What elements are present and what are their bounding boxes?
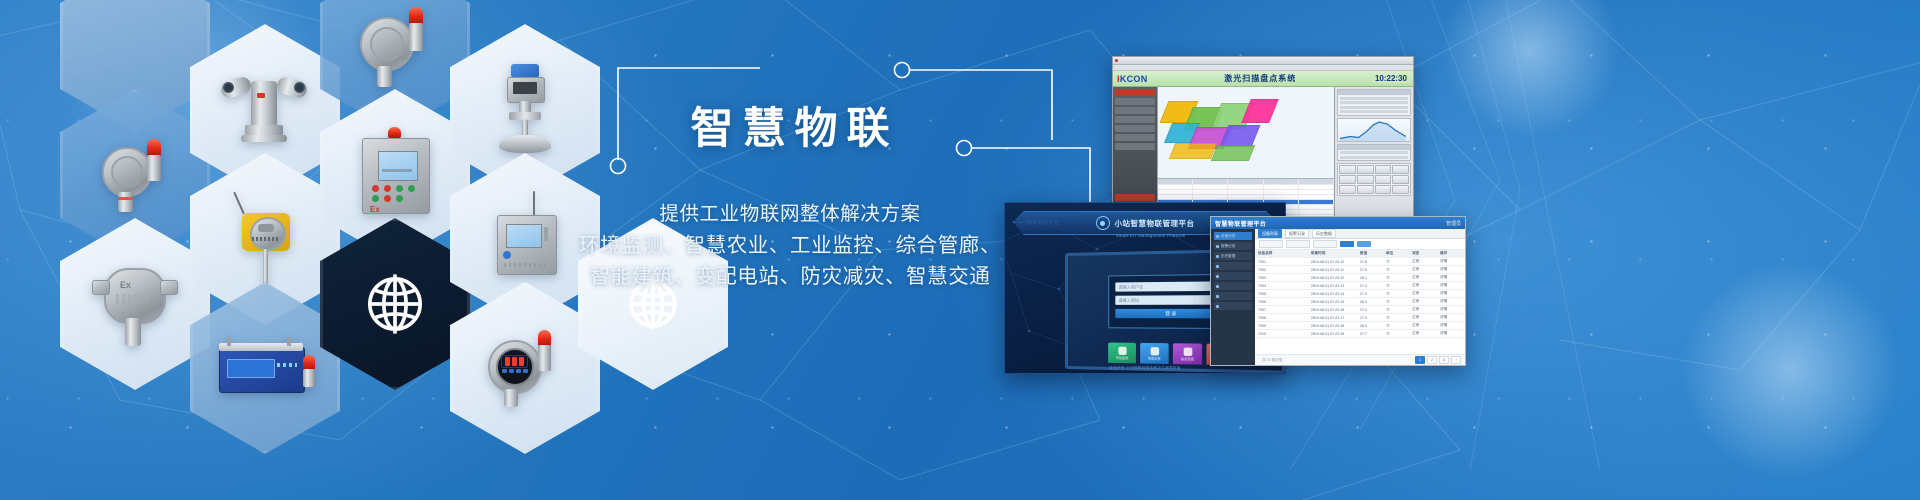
pager-note: 共 10 条记录 — [1259, 358, 1282, 363]
app-header: IKCON 激光扫描盘点系统 10:22:30 — [1113, 71, 1413, 87]
cell-action[interactable]: 详情 — [1437, 291, 1465, 296]
filter-input-2[interactable] — [1286, 240, 1310, 248]
tab-history-data[interactable]: 历史数据 — [1312, 229, 1336, 238]
column-header: 设备名称 — [1255, 251, 1308, 256]
leaf-icon — [1118, 346, 1126, 354]
cell-time: 2019-08-01 07:22:10 — [1308, 260, 1357, 264]
param-panel — [1337, 144, 1411, 162]
grid-button[interactable] — [1339, 165, 1356, 174]
cell-value: 27.5 — [1357, 316, 1383, 320]
cell-value: 28.3 — [1357, 300, 1383, 304]
button-grid[interactable] — [1337, 163, 1411, 196]
cell-value: 28.1 — [1357, 276, 1383, 280]
cell-time: 2019-08-01 07:22:14 — [1308, 292, 1357, 296]
cell-unit: ℃ — [1383, 260, 1409, 264]
cell-status: 正常 — [1409, 291, 1437, 296]
app-body — [1113, 87, 1413, 219]
table-window-header: 智慧物联管理平台 管理员 — [1211, 217, 1465, 229]
grid-button[interactable] — [1392, 175, 1409, 184]
table-window-brand: 智慧物联管理平台 — [1215, 219, 1266, 228]
table-row[interactable]: 7002 2019-08-01 07:22:11 27.6 ℃ 正常 详情 — [1255, 266, 1465, 274]
cell-status: 正常 — [1409, 283, 1437, 288]
ikcon-logo: IKCON — [1117, 74, 1148, 84]
glow-spot-right — [1680, 260, 1900, 480]
filter-bar[interactable] — [1255, 239, 1465, 250]
pager-page-2[interactable]: 2 — [1427, 356, 1437, 364]
globe-badge-icon — [1096, 216, 1110, 230]
cell-status: 正常 — [1409, 331, 1437, 336]
cell-device: 7003 — [1255, 276, 1308, 280]
cell-time: 2019-08-01 07:22:19 — [1308, 332, 1357, 336]
cell-action[interactable]: 详情 — [1437, 283, 1465, 288]
sidebar-item-5[interactable] — [1115, 134, 1155, 141]
cell-time: 2019-08-01 07:22:11 — [1308, 268, 1357, 272]
window-close-icon[interactable] — [1115, 59, 1118, 62]
grid-button[interactable] — [1339, 175, 1356, 184]
monitor-sidebar[interactable] — [1113, 87, 1157, 219]
sidebar-item-3[interactable] — [1115, 116, 1155, 123]
dashboard-footer: 版权所有 工业物联网整体解决方案提供商 — [1005, 366, 1285, 371]
table-row[interactable]: 7003 2019-08-01 07:22:12 28.1 ℃ 正常 详情 — [1255, 274, 1465, 282]
subtitle-lead: 提供工业物联网整体解决方案 — [575, 199, 1005, 230]
cell-time: 2019-08-01 07:22:12 — [1308, 276, 1357, 280]
laser-scan-system-window[interactable]: IKCON 激光扫描盘点系统 10:22:30 — [1112, 56, 1414, 220]
table-window-main: 设备列表 报警记录 历史数据 设备名称 采集时间 数值 单位 — [1255, 229, 1465, 365]
cell-time: 2019-08-01 07:22:16 — [1308, 308, 1357, 312]
cell-unit: ℃ — [1383, 276, 1409, 280]
sidebar-item-5[interactable] — [1214, 272, 1252, 280]
table-window-body: 设备列表 报警记录 历史数据 设备列表 报警记录 历史数据 — [1211, 229, 1465, 365]
tile-label: 智慧水务 — [1148, 356, 1161, 360]
clock-icon — [1216, 255, 1219, 258]
column-header: 数值 — [1357, 251, 1383, 256]
sidebar-label: 报警记录 — [1221, 244, 1235, 249]
folder-icon — [1216, 295, 1219, 298]
cell-action[interactable]: 详情 — [1437, 299, 1465, 304]
cell-device: 7010 — [1255, 332, 1308, 336]
cell-status: 正常 — [1409, 323, 1437, 328]
dashboard-subtitle-en: Smart IoT Management Platform — [1116, 233, 1186, 238]
sidebar-item-device-list[interactable]: 设备列表 — [1214, 232, 1252, 240]
grid-button[interactable] — [1392, 165, 1409, 174]
sidebar-item-4[interactable] — [1115, 125, 1155, 132]
glow-spot-top — [1440, 0, 1620, 140]
tile-environment[interactable]: 环境监测 — [1108, 343, 1136, 364]
reset-button[interactable] — [1357, 241, 1371, 247]
cell-device: 7005 — [1255, 292, 1308, 296]
page-title: 智慧物联 — [575, 108, 1005, 151]
cell-device: 7004 — [1255, 284, 1308, 288]
map-icon — [1216, 305, 1219, 308]
grid-button[interactable] — [1357, 185, 1374, 194]
grid-button[interactable] — [1339, 185, 1356, 194]
map-zone-8 — [1211, 145, 1255, 161]
grid-button[interactable] — [1375, 165, 1392, 174]
cell-action[interactable]: 详情 — [1437, 275, 1465, 280]
hex-cell-globe-dark[interactable] — [320, 218, 470, 390]
grid-button[interactable] — [1375, 185, 1392, 194]
drop-icon — [1150, 347, 1158, 355]
table-row[interactable]: 7008 2019-08-01 07:22:17 27.5 ℃ 正常 详情 — [1255, 314, 1465, 322]
monitor-right-panel[interactable] — [1335, 87, 1413, 219]
username-placeholder: 请输入用户名 — [1118, 284, 1143, 290]
grid-button[interactable] — [1357, 175, 1374, 184]
sidebar-label: 设备列表 — [1221, 234, 1235, 239]
table-pager[interactable]: 共 10 条记录 1 2 3 › — [1255, 354, 1465, 365]
grid-button[interactable] — [1357, 165, 1374, 174]
subtitle-line-3: 智能建筑、变配电站、防灾减灾、智慧交通 — [575, 261, 1005, 292]
table-window-sidebar[interactable]: 设备列表 报警记录 历史数据 — [1211, 229, 1255, 365]
sidebar-item-history[interactable]: 历史数据 — [1214, 252, 1252, 260]
globe-icon — [358, 267, 432, 341]
product-hexagon-grid: Ex — [0, 0, 620, 500]
search-button[interactable] — [1340, 241, 1354, 247]
table-header-row: 设备名称 采集时间 数值 单位 状态 操作 — [1255, 250, 1465, 258]
cell-value: 27.9 — [1357, 292, 1383, 296]
cell-device: 7001 — [1255, 260, 1308, 264]
tile-water[interactable]: 智慧水务 — [1140, 343, 1168, 364]
cell-device: 7007 — [1255, 308, 1308, 312]
sidebar-item-alarm[interactable]: 报警记录 — [1214, 242, 1252, 250]
cell-value: 27.7 — [1357, 332, 1383, 336]
info-panel — [1337, 89, 1411, 116]
subtitle-line-2: 环境监测、智慧农业、工业监控、综合管廊、 — [575, 230, 1005, 261]
bell-icon — [1216, 245, 1219, 248]
pager-page-1[interactable]: 1 — [1415, 356, 1425, 364]
tab-alarm-records[interactable]: 报警记录 — [1285, 229, 1309, 238]
cell-status: 正常 — [1409, 315, 1437, 320]
sidebar-item-7[interactable] — [1214, 292, 1252, 300]
cell-status: 正常 — [1409, 307, 1437, 312]
sidebar-label: 历史数据 — [1221, 254, 1235, 259]
subtitle-block: 提供工业物联网整体解决方案 环境监测、智慧农业、工业监控、综合管廊、 智能建筑、… — [575, 199, 1005, 292]
tab-device-list[interactable]: 设备列表 — [1258, 229, 1282, 238]
password-placeholder: 请输入密码 — [1118, 297, 1139, 303]
cell-action[interactable]: 详情 — [1437, 267, 1465, 272]
sidebar-item-0[interactable] — [1115, 89, 1155, 96]
user-icon — [1216, 285, 1219, 288]
cell-device: 7008 — [1255, 316, 1308, 320]
sidebar-item-6[interactable] — [1214, 282, 1252, 290]
connector-node-upper — [895, 63, 910, 78]
grid-button[interactable] — [1392, 185, 1409, 194]
filter-input-3[interactable] — [1313, 240, 1337, 248]
scan-map-canvas[interactable] — [1157, 87, 1335, 219]
cell-status: 正常 — [1409, 267, 1437, 272]
map-zone-7 — [1169, 143, 1217, 159]
cell-unit: ℃ — [1383, 284, 1409, 288]
cell-time: 2019-08-01 07:22:17 — [1308, 316, 1357, 320]
cell-device: 7002 — [1255, 268, 1308, 272]
cell-unit: ℃ — [1383, 300, 1409, 304]
filter-input-1[interactable] — [1259, 240, 1283, 248]
table-row[interactable]: 7009 2019-08-01 07:22:18 28.0 ℃ 正常 详情 — [1255, 322, 1465, 330]
cell-action[interactable]: 详情 — [1437, 331, 1465, 336]
tile-pipe-gallery[interactable]: 综合管廊 — [1173, 343, 1202, 364]
gear-icon — [1216, 275, 1219, 278]
column-header: 操作 — [1437, 251, 1465, 256]
column-header: 采集时间 — [1308, 251, 1357, 256]
table-row[interactable]: 7004 2019-08-01 07:22:13 27.4 ℃ 正常 详情 — [1255, 282, 1465, 290]
cell-value: 27.4 — [1357, 284, 1383, 288]
sidebar-action-0[interactable] — [1115, 194, 1155, 201]
cell-value: 27.8 — [1357, 260, 1383, 264]
cell-status: 正常 — [1409, 299, 1437, 304]
app-title: 激光扫描盘点系统 — [1224, 73, 1296, 84]
device-data-table-window[interactable]: 智慧物联管理平台 管理员 设备列表 报警记录 历史数据 设备列表 报警记录 历史… — [1210, 216, 1466, 366]
cell-unit: ℃ — [1383, 324, 1409, 328]
pager-page-3[interactable]: 3 — [1439, 356, 1449, 364]
cell-action[interactable]: 详情 — [1437, 307, 1465, 312]
clock-display: 10:22:30 — [1373, 74, 1409, 83]
sidebar-item-8[interactable] — [1214, 302, 1252, 310]
cell-status: 正常 — [1409, 259, 1437, 264]
iot-solution-banner: Ex — [0, 0, 1920, 500]
cell-value: 27.2 — [1357, 308, 1383, 312]
window-titlebar — [1113, 57, 1413, 65]
cell-device: 7009 — [1255, 324, 1308, 328]
pager-next[interactable]: › — [1451, 356, 1461, 364]
table-tabs[interactable]: 设备列表 报警记录 历史数据 — [1255, 229, 1465, 239]
table-row[interactable]: 7001 2019-08-01 07:22:10 27.8 ℃ 正常 详情 — [1255, 258, 1465, 266]
cell-time: 2019-08-01 07:22:18 — [1308, 324, 1357, 328]
login-submit-label: 登 录 — [1165, 310, 1176, 316]
headline-block: 智慧物联 提供工业物联网整体解决方案 环境监测、智慧农业、工业监控、综合管廊、 … — [575, 108, 1005, 292]
cell-action[interactable]: 详情 — [1437, 323, 1465, 328]
cell-time: 2019-08-01 07:22:15 — [1308, 300, 1357, 304]
cell-unit: ℃ — [1383, 316, 1409, 320]
table-row[interactable]: 7010 2019-08-01 07:22:19 27.7 ℃ 正常 详情 — [1255, 330, 1465, 338]
column-header: 状态 — [1409, 251, 1437, 256]
tunnel-icon — [1183, 347, 1192, 355]
sidebar-item-6[interactable] — [1115, 143, 1155, 150]
cell-unit: ℃ — [1383, 292, 1409, 296]
cell-unit: ℃ — [1383, 308, 1409, 312]
cell-action[interactable]: 详情 — [1437, 315, 1465, 320]
table-row[interactable]: 7006 2019-08-01 07:22:15 28.3 ℃ 正常 详情 — [1255, 298, 1465, 306]
cell-status: 正常 — [1409, 275, 1437, 280]
cell-unit: ℃ — [1383, 332, 1409, 336]
hex-cell-blue-controller[interactable] — [190, 282, 340, 454]
list-icon — [1216, 235, 1219, 238]
cell-unit: ℃ — [1383, 268, 1409, 272]
tile-label: 综合管廊 — [1181, 356, 1194, 360]
sidebar-item-4[interactable] — [1214, 262, 1252, 270]
sidebar-item-2[interactable] — [1115, 107, 1155, 114]
table-window-user[interactable]: 管理员 — [1446, 220, 1461, 227]
trend-chart — [1337, 118, 1411, 142]
sidebar-item-1[interactable] — [1115, 98, 1155, 105]
table-row[interactable]: 7005 2019-08-01 07:22:14 27.9 ℃ 正常 详情 — [1255, 290, 1465, 298]
cell-time: 2019-08-01 07:22:13 — [1308, 284, 1357, 288]
cell-value: 28.0 — [1357, 324, 1383, 328]
cell-action[interactable]: 详情 — [1437, 259, 1465, 264]
data-table: 设备名称 采集时间 数值 单位 状态 操作 7001 2019-08-01 07… — [1255, 250, 1465, 354]
hex-cell-digital-detector[interactable] — [450, 282, 600, 454]
table-row[interactable]: 7007 2019-08-01 07:22:16 27.2 ℃ 正常 详情 — [1255, 306, 1465, 314]
chart-icon — [1216, 265, 1219, 268]
grid-button[interactable] — [1375, 175, 1392, 184]
dashboard-title: 小站智慧物联管理平台 — [1115, 218, 1195, 229]
brand-name: KCON — [1120, 74, 1148, 84]
hex-cell-junction-box[interactable]: Ex — [60, 218, 210, 390]
cell-device: 7006 — [1255, 300, 1308, 304]
cell-value: 27.6 — [1357, 268, 1383, 272]
column-header: 单位 — [1383, 251, 1409, 256]
tile-label: 环境监测 — [1116, 355, 1128, 359]
